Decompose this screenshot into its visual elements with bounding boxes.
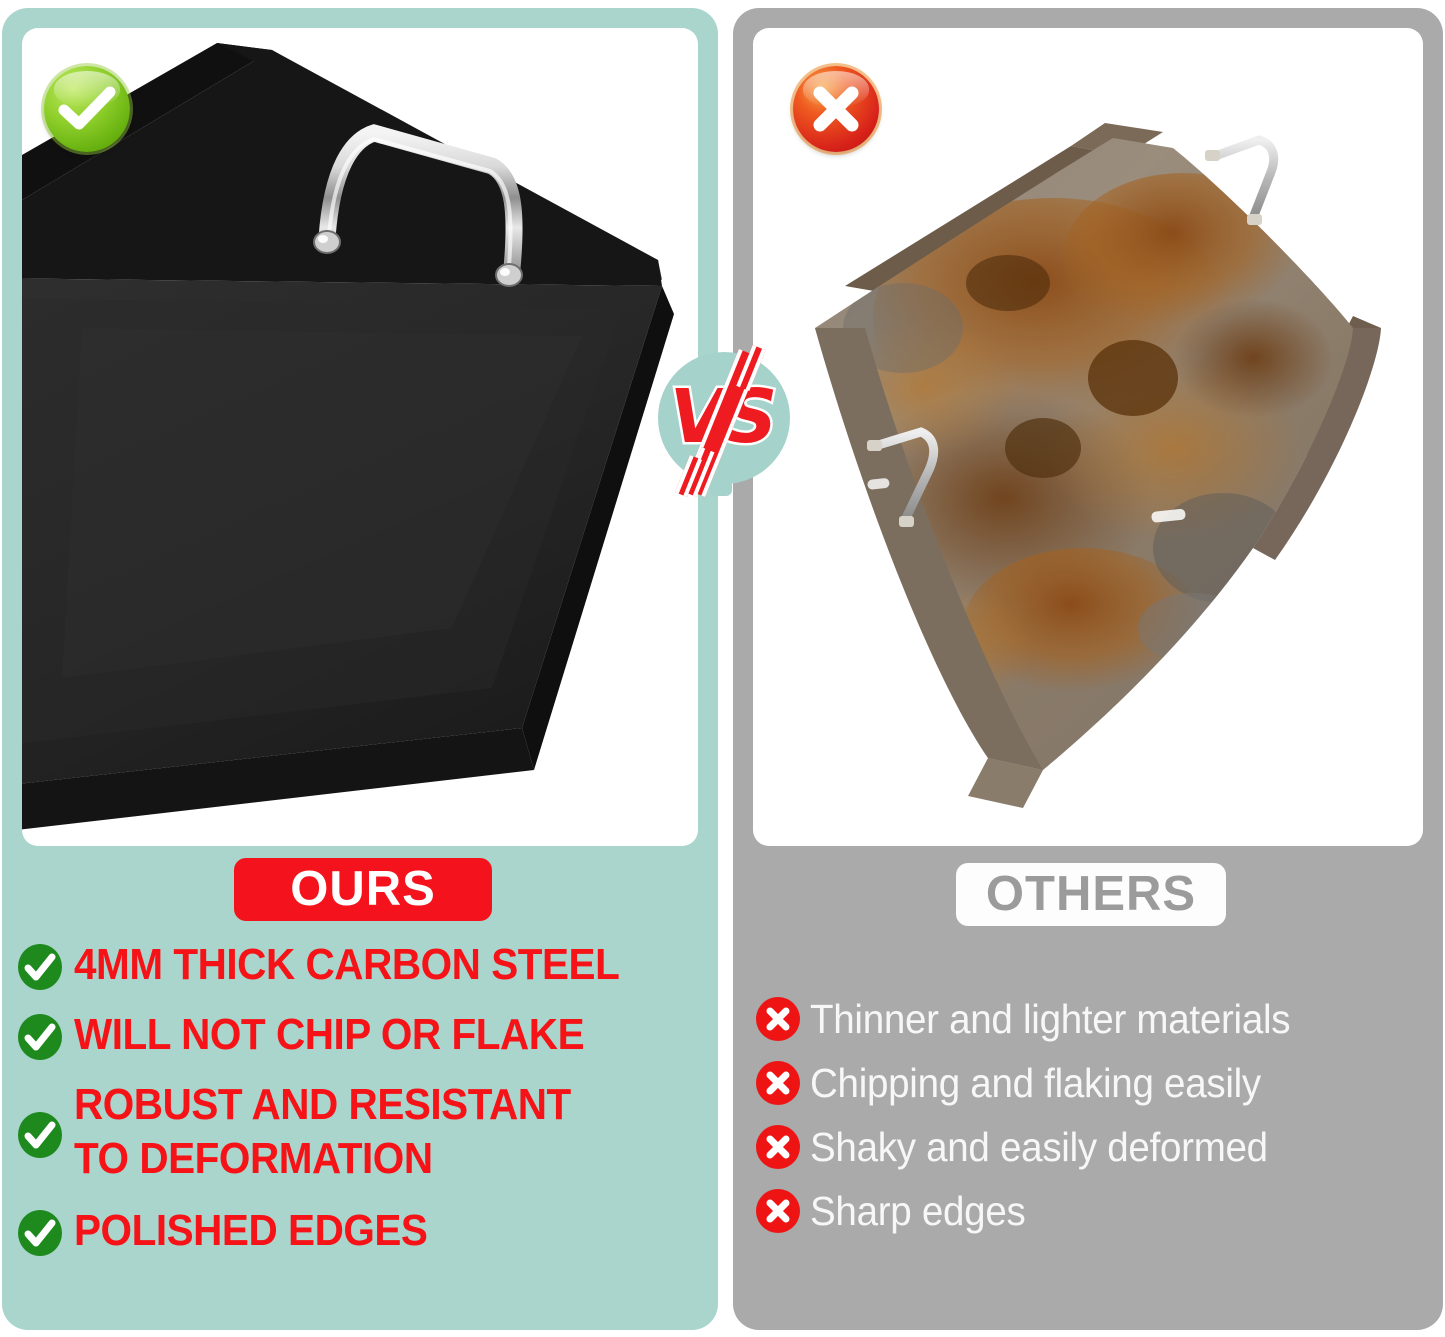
check-glyph xyxy=(44,66,130,152)
comparison-infographic: VS OURS OTHERS 4MM THICK CARBON STEEL WI… xyxy=(0,0,1445,1337)
x-circle-icon xyxy=(756,1061,800,1105)
list-item: ROBUST AND RESISTANT TO DEFORMATION xyxy=(18,1078,708,1186)
feature-label: 4MM THICK CARBON STEEL xyxy=(74,938,619,992)
x-circle-icon xyxy=(756,997,800,1041)
check-circle-icon xyxy=(18,944,62,990)
ours-feature-list: 4MM THICK CARBON STEEL WILL NOT CHIP OR … xyxy=(18,938,708,1274)
list-item: Shaky and easily deformed xyxy=(756,1118,1436,1176)
feature-label: ROBUST AND RESISTANT TO DEFORMATION xyxy=(74,1078,571,1186)
feature-label: WILL NOT CHIP OR FLAKE xyxy=(74,1008,584,1062)
check-circle-icon xyxy=(18,1112,62,1158)
check-circle-icon xyxy=(18,1210,62,1256)
others-title-chip: OTHERS xyxy=(956,863,1226,926)
red-x-circle-icon xyxy=(793,66,879,152)
list-item: Thinner and lighter materials xyxy=(756,990,1436,1048)
feature-label: POLISHED EDGES xyxy=(74,1204,427,1258)
vs-badge-icon: VS xyxy=(648,352,796,500)
x-circle-icon xyxy=(756,1125,800,1169)
drawback-label: Chipping and flaking easily xyxy=(810,1054,1261,1112)
list-item: WILL NOT CHIP OR FLAKE xyxy=(18,1008,708,1062)
check-circle-icon xyxy=(18,1014,62,1060)
ours-image-card xyxy=(22,28,698,846)
others-image-card xyxy=(753,28,1423,846)
others-feature-list: Thinner and lighter materials Chipping a… xyxy=(756,990,1436,1246)
x-glyph xyxy=(793,66,879,152)
drawback-label: Thinner and lighter materials xyxy=(810,990,1290,1048)
drawback-label: Sharp edges xyxy=(810,1182,1025,1240)
green-check-circle-icon xyxy=(44,66,130,152)
drawback-label: Shaky and easily deformed xyxy=(810,1118,1268,1176)
list-item: POLISHED EDGES xyxy=(18,1204,708,1258)
list-item: Chipping and flaking easily xyxy=(756,1054,1436,1112)
ours-title-chip: OURS xyxy=(234,858,492,921)
x-circle-icon xyxy=(756,1189,800,1233)
list-item: Sharp edges xyxy=(756,1182,1436,1240)
list-item: 4MM THICK CARBON STEEL xyxy=(18,938,708,992)
